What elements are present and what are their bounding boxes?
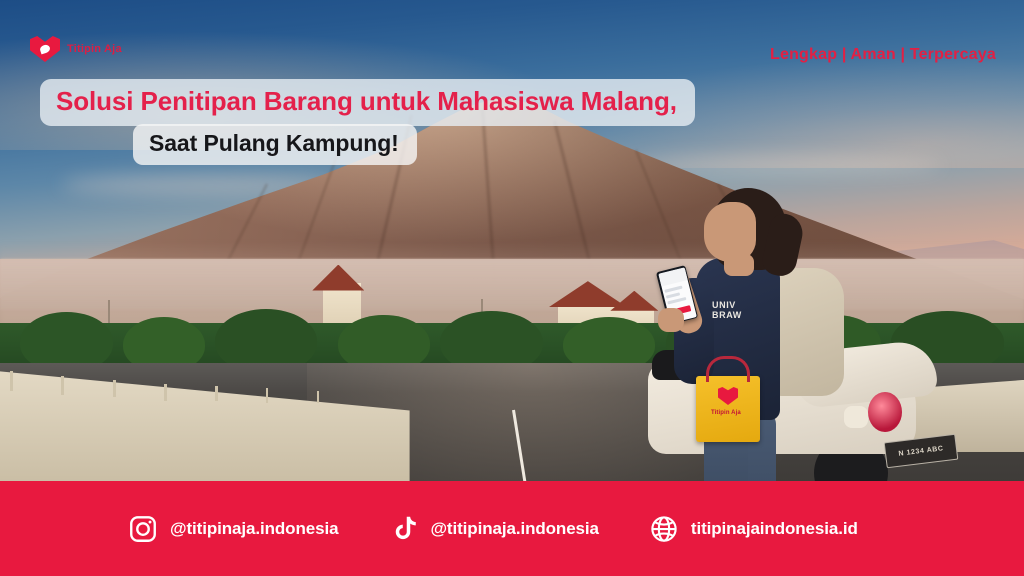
jacket-text-line2: BRAW	[712, 310, 742, 320]
face	[704, 202, 756, 262]
contact-instagram[interactable]: @titipinaja.indonesia	[128, 514, 338, 544]
promo-banner: N 1234 ABC UNIV BRAW	[0, 0, 1024, 576]
tote-brand-label: Titipin Aja	[711, 410, 741, 416]
jacket-text-line1: UNIV	[712, 300, 742, 310]
neck	[724, 254, 754, 276]
headline-line-1: Solusi Penitipan Barang untuk Mahasiswa …	[40, 79, 695, 126]
tote-handle	[706, 356, 750, 382]
phone-content-line	[665, 285, 683, 293]
guardrail-post	[61, 376, 64, 395]
instagram-icon	[128, 514, 158, 544]
guardrail-post	[317, 391, 319, 404]
brand-logo-text: Titipin Aja	[67, 43, 122, 55]
scooter-indicator	[844, 406, 868, 428]
scooter-taillight	[868, 392, 902, 432]
website-url: titipinajaindonesia.id	[691, 519, 858, 539]
titipin-aja-mark-icon	[30, 36, 60, 62]
contact-website[interactable]: titipinajaindonesia.id	[649, 514, 858, 544]
contact-tiktok[interactable]: @titipinaja.indonesia	[388, 514, 598, 544]
guardrail-post	[164, 384, 167, 401]
brand-logo[interactable]: Titipin Aja	[30, 36, 122, 62]
woman-with-scooter: N 1234 ABC UNIV BRAW	[600, 150, 1024, 510]
guardrail-post	[215, 386, 218, 401]
globe-icon	[649, 514, 679, 544]
jacket-text: UNIV BRAW	[712, 300, 742, 321]
hand	[658, 308, 684, 332]
tote-logo-icon	[718, 387, 738, 405]
tote-bag: Titipin Aja	[696, 376, 760, 442]
tiktok-icon	[388, 514, 418, 544]
footer-contacts: @titipinaja.indonesia @titipinaja.indone…	[0, 481, 1024, 576]
guardrail-post	[266, 388, 268, 403]
instagram-handle: @titipinaja.indonesia	[170, 519, 338, 539]
guardrail-post	[10, 371, 13, 390]
header-tagline: Lengkap | Aman | Terpercaya	[770, 46, 996, 64]
phone-app-header	[658, 267, 687, 286]
headline-line-2: Saat Pulang Kampung!	[133, 124, 417, 165]
guardrail-post	[113, 380, 116, 397]
tiktok-handle: @titipinaja.indonesia	[430, 519, 598, 539]
